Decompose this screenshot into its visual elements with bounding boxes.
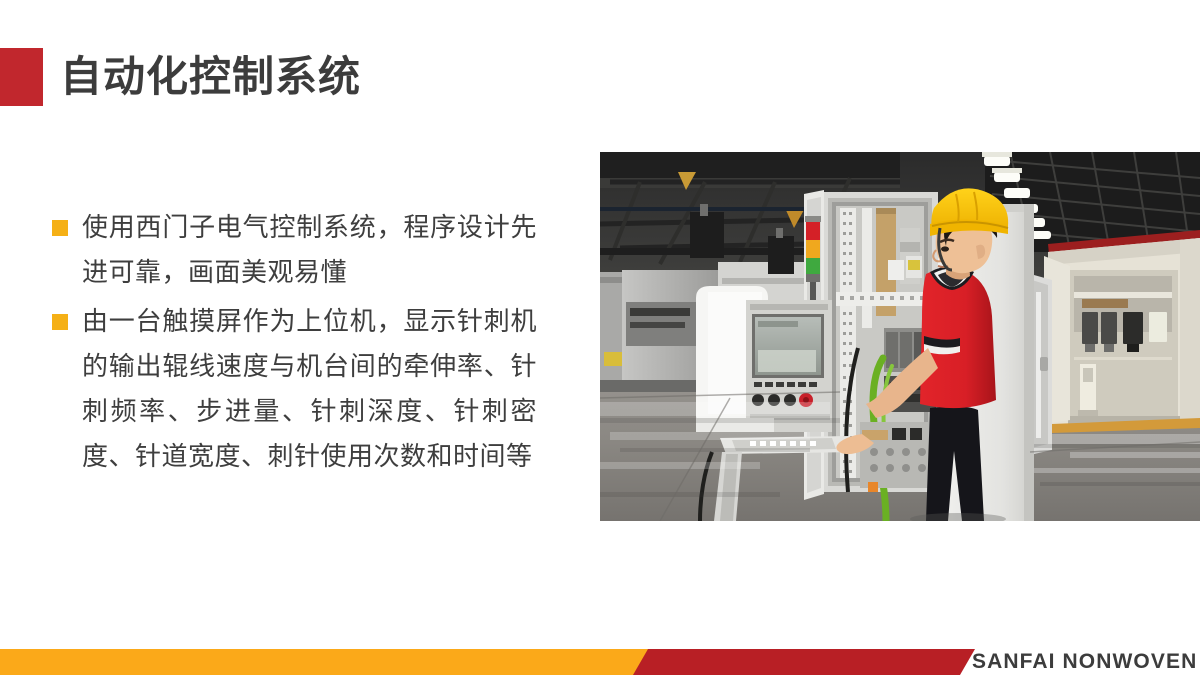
brand-name: SANFAI NONWOVEN xyxy=(972,649,1197,675)
bullet-list: 使用西门子电气控制系统，程序设计先进可靠，画面美观易懂 由一台触摸屏作为上位机，… xyxy=(52,206,552,484)
footer-band-orange xyxy=(0,649,660,675)
bullet-text: 由一台触摸屏作为上位机，显示针刺机的输出辊线速度与机台间的牵伸率、针刺频率、步进… xyxy=(82,300,537,480)
photo-automation-control-cabinet xyxy=(600,152,1200,521)
square-bullet-icon xyxy=(52,220,68,236)
page-title: 自动化控制系统 xyxy=(0,48,361,106)
slide-root: 自动化控制系统 使用西门子电气控制系统，程序设计先进可靠，画面美观易懂 由一台触… xyxy=(0,0,1200,675)
title-accent-block xyxy=(0,48,43,106)
page-title-text: 自动化控制系统 xyxy=(60,48,361,106)
list-item: 由一台触摸屏作为上位机，显示针刺机的输出辊线速度与机台间的牵伸率、针刺频率、步进… xyxy=(52,300,552,480)
list-item: 使用西门子电气控制系统，程序设计先进可靠，画面美观易懂 xyxy=(52,206,552,296)
square-bullet-icon xyxy=(52,314,68,330)
footer-band-red xyxy=(633,649,975,675)
bullet-text: 使用西门子电气控制系统，程序设计先进可靠，画面美观易懂 xyxy=(82,206,537,296)
